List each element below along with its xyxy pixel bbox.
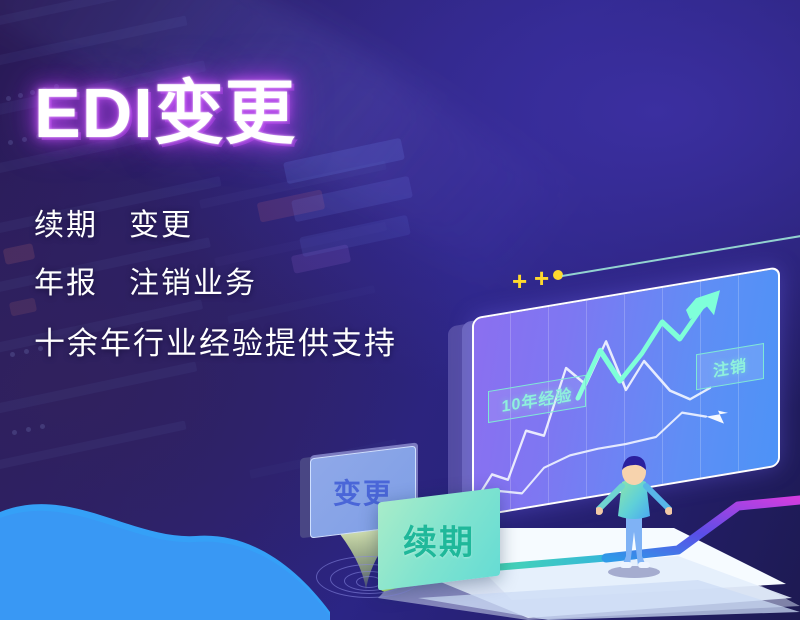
chart-series-mint	[578, 307, 702, 398]
person-figure	[596, 452, 672, 578]
texture-dot	[24, 349, 29, 354]
decorative-wave	[0, 470, 330, 620]
texture-chip	[3, 243, 36, 265]
texture-strip	[0, 15, 188, 67]
plus-icon: +	[534, 265, 549, 291]
banner-canvas: EDI变更 续期 变更 年报 注销业务 十余年行业经验提供支持 + + 10年经…	[0, 0, 800, 620]
texture-dot	[26, 427, 31, 432]
texture-node-pill	[283, 138, 405, 184]
person-arm-left	[598, 486, 622, 510]
person-shoe-right	[638, 562, 650, 568]
texture-dot	[12, 430, 17, 435]
texture-strip	[0, 0, 147, 27]
card-renew[interactable]: 续期	[378, 488, 500, 591]
texture-strip	[0, 361, 197, 415]
texture-dot	[8, 140, 13, 145]
texture-strip	[199, 161, 387, 209]
texture-strip	[0, 421, 187, 471]
subtitle-line-1: 续期 变更	[34, 200, 193, 244]
subtitle-line-2: 年报 注销业务	[34, 258, 257, 302]
person-shoe-left	[620, 562, 632, 568]
plus-icon: +	[512, 268, 527, 294]
texture-dot	[10, 352, 15, 357]
chart-arrow-up-right	[686, 290, 720, 320]
texture-chip	[257, 189, 326, 222]
subtitle-line-3: 十余年行业经验提供支持	[34, 318, 397, 363]
texture-dot	[40, 424, 45, 429]
person-legs	[622, 514, 646, 566]
texture-dot	[6, 96, 11, 101]
texture-chip	[291, 244, 351, 274]
person-shadow	[608, 566, 660, 578]
texture-chip	[9, 297, 37, 316]
person-arm-right	[646, 486, 670, 510]
texture-node-pill	[291, 176, 413, 222]
page-title: EDI变更	[34, 78, 296, 148]
chart-arrow-down-right	[706, 409, 728, 427]
card-renew-label: 续期	[403, 515, 475, 564]
texture-dot	[22, 137, 27, 142]
texture-node-pill	[299, 215, 411, 257]
texture-dot	[18, 93, 23, 98]
